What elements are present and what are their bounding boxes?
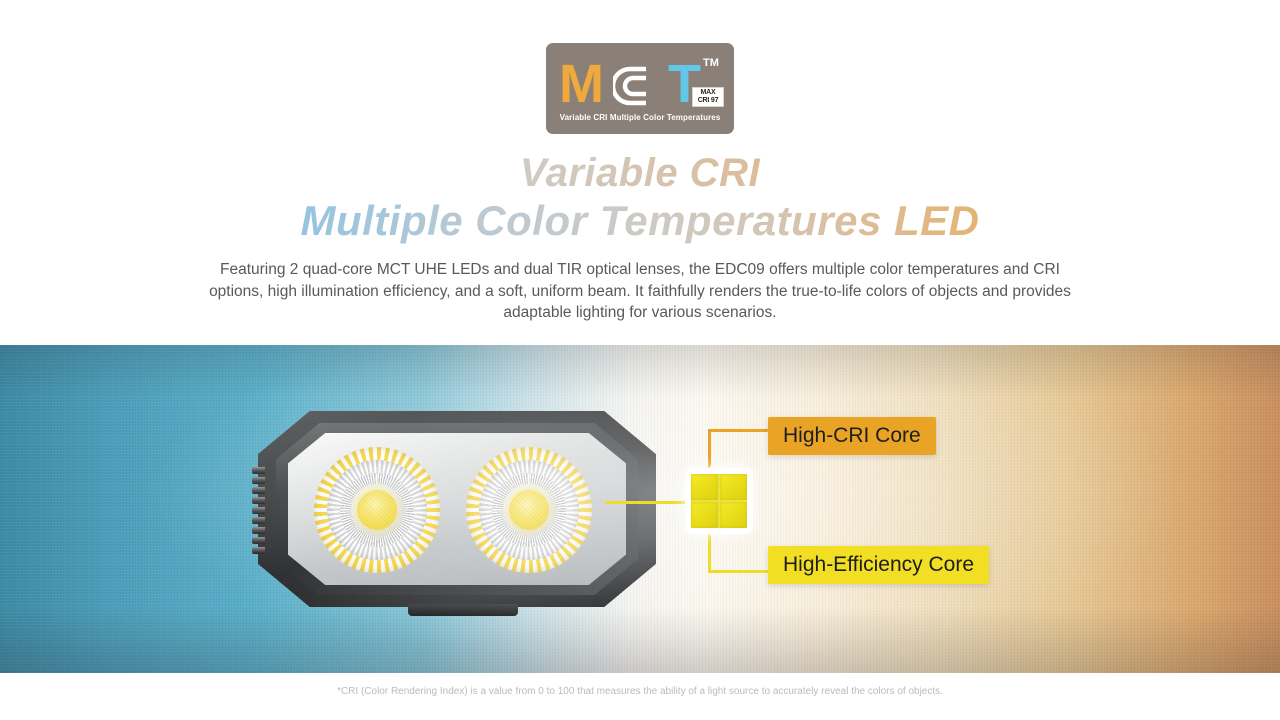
body-paragraph: Featuring 2 quad-core MCT UHE LEDs and d… [196,259,1084,324]
knurl-ridge [252,547,265,554]
knurl-ridge [252,507,265,514]
headline-line-2: Multiple Color Temperatures LED [0,196,1280,246]
page-title: Variable CRI Multiple Color Temperatures… [0,150,1280,246]
knurl-ridge [252,517,265,524]
knurl-ridge [252,537,265,544]
tir-optic-right [466,447,592,573]
callout-high-efficiency-core: High-Efficiency Core [768,546,989,584]
die-cell [691,502,718,528]
product-feature-page: M T TM MAX CRI 97 Variable CRI Multiple … [0,0,1280,720]
logo-tagline-text: Variable CRI Multiple Color Temperatures [546,113,734,122]
die-cell [720,474,747,500]
tir-left-led-die [357,490,397,530]
head-knurl-ridges [252,467,266,553]
die-cell [691,474,718,500]
cri-footnote-text: *CRI (Color Rendering Index) is a value … [0,686,1280,697]
die-cell [720,502,747,528]
mct-logo-inner: M T TM MAX CRI 97 Variable CRI Multiple … [546,43,734,134]
logo-letter-m-text: M [559,57,602,111]
max-cri-badge-line1: MAX [701,89,716,97]
die-cell-grid [691,474,747,528]
knurl-ridge [252,467,265,474]
tir-optic-left [314,447,440,573]
tir-left-die-texture [357,490,397,530]
logo-letter-c-icon [613,65,653,107]
max-cri-badge: MAX CRI 97 [692,87,724,107]
headline-line-1: Variable CRI [0,150,1280,196]
flashlight-head-image [258,411,656,607]
leader-line-high-cri [708,429,770,469]
knurl-ridge [252,497,265,504]
footer-section: *CRI (Color Rendering Index) is a value … [0,673,1280,720]
knurl-ridge [252,527,265,534]
header-section: M T TM MAX CRI 97 Variable CRI Multiple … [0,0,1280,345]
tir-right-led-die [509,490,549,530]
callout-high-cri-core: High-CRI Core [768,417,936,455]
head-bottom-tab [408,604,518,616]
knurl-ridge [252,477,265,484]
leader-line-high-efficiency [708,533,770,573]
tir-right-die-texture [509,490,549,530]
mct-logo-badge: M T TM MAX CRI 97 Variable CRI Multiple … [546,43,734,134]
logo-trademark-text: TM [703,57,719,69]
quad-core-die-diagram [685,468,753,534]
leader-line-lens-to-die [605,501,689,504]
product-photo-band [0,345,1280,673]
max-cri-badge-line2: CRI 97 [698,97,719,105]
knurl-ridge [252,487,265,494]
